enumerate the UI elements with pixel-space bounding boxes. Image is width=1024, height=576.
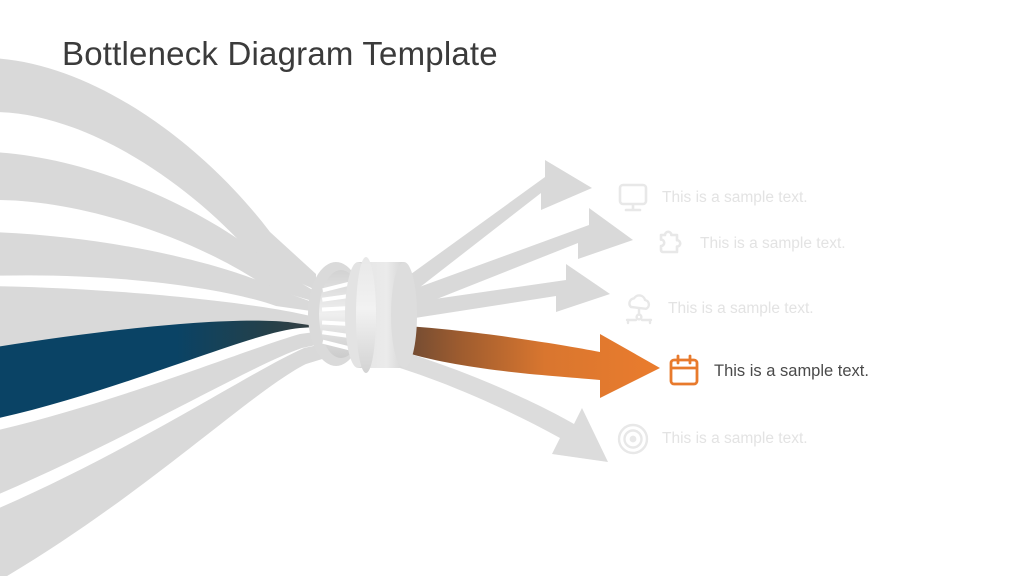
output-item-label: This is a sample text. <box>662 429 808 449</box>
output-arrow-1 <box>400 160 592 298</box>
funnel-barrel-right-cap <box>391 262 417 368</box>
puzzle-piece-icon <box>654 228 688 260</box>
target-icon <box>616 422 650 456</box>
slide-canvas: Bottleneck Diagram Template <box>0 0 1024 576</box>
output-item-1[interactable]: This is a sample text. <box>654 228 846 260</box>
monitor-icon <box>616 182 650 214</box>
funnel-collar <box>356 257 376 373</box>
output-item-3[interactable]: This is a sample text. <box>666 353 869 389</box>
bottleneck-funnel <box>308 257 417 373</box>
output-item-label: This is a sample text. <box>700 234 846 254</box>
input-streams <box>0 58 332 576</box>
calendar-icon <box>666 353 702 389</box>
bottleneck-diagram <box>0 0 1024 576</box>
output-item-label: This is a sample text. <box>662 188 808 208</box>
output-arrow-highlighted <box>404 326 660 398</box>
output-item-label: This is a sample text. <box>714 361 869 381</box>
output-item-label: This is a sample text. <box>668 299 814 319</box>
output-item-0[interactable]: This is a sample text. <box>616 182 808 214</box>
cloud-network-icon <box>622 292 656 326</box>
output-item-4[interactable]: This is a sample text. <box>616 422 808 456</box>
output-item-2[interactable]: This is a sample text. <box>622 292 814 326</box>
